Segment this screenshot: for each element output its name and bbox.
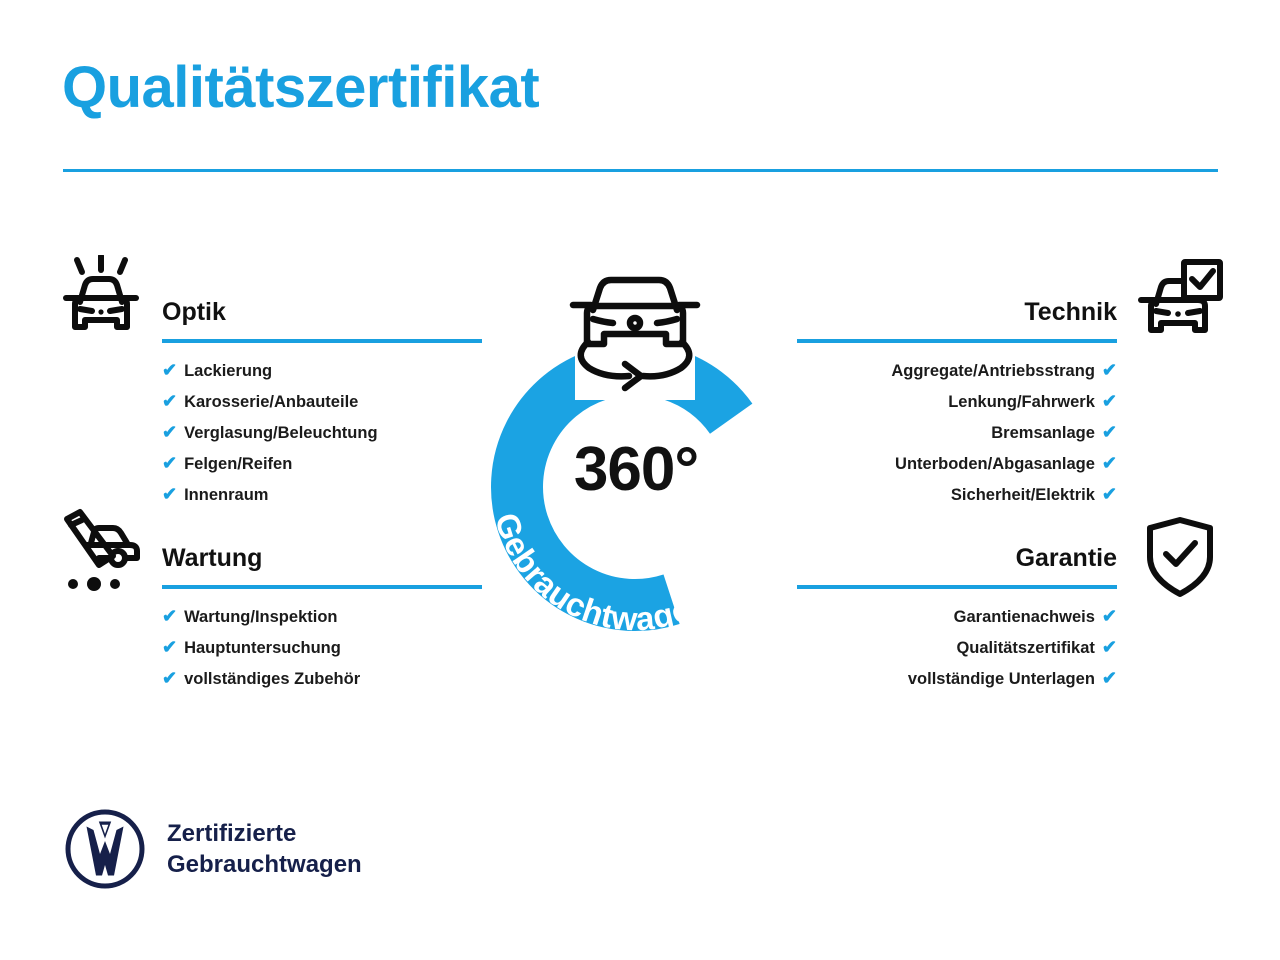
list-item-label: Hauptuntersuchung bbox=[184, 639, 341, 657]
footer-brand-text: Zertifizierte Gebrauchtwagen bbox=[167, 818, 362, 880]
check-icon: ✔ bbox=[162, 606, 177, 626]
footer-brand-line1: Zertifizierte bbox=[167, 818, 362, 849]
check-icon: ✔ bbox=[162, 360, 177, 380]
vw-roundel-icon bbox=[64, 808, 146, 890]
section-garantie-underline bbox=[797, 585, 1117, 589]
list-item: Unterboden/Abgasanlage✔ bbox=[797, 448, 1117, 479]
section-optik-underline bbox=[162, 339, 482, 343]
section-optik: Optik ✔Lackierung ✔Karosserie/Anbauteile… bbox=[162, 295, 482, 510]
shield-check-icon bbox=[1143, 515, 1217, 604]
list-item-label: vollständige Unterlagen bbox=[908, 670, 1095, 688]
check-icon: ✔ bbox=[1102, 668, 1117, 688]
check-icon: ✔ bbox=[162, 391, 177, 411]
section-technik-title: Technik bbox=[797, 295, 1117, 329]
list-item-label: Unterboden/Abgasanlage bbox=[895, 455, 1095, 473]
section-technik-underline bbox=[797, 339, 1117, 343]
list-item: Sicherheit/Elektrik✔ bbox=[797, 479, 1117, 510]
car-shine-icon bbox=[58, 255, 144, 352]
check-icon: ✔ bbox=[162, 453, 177, 473]
list-item: Garantienachweis✔ bbox=[797, 601, 1117, 632]
list-item: Qualitätszertifikat✔ bbox=[797, 632, 1117, 663]
page-title: Qualitätszertifikat bbox=[62, 58, 539, 119]
pencil-car-service-icon bbox=[58, 508, 144, 599]
section-garantie-header: Garantie bbox=[797, 541, 1117, 589]
section-optik-list: ✔Lackierung ✔Karosserie/Anbauteile ✔Verg… bbox=[162, 355, 482, 510]
check-icon: ✔ bbox=[1102, 453, 1117, 473]
check-icon: ✔ bbox=[1102, 360, 1117, 380]
list-item: ✔Felgen/Reifen bbox=[162, 448, 482, 479]
list-item-label: Lackierung bbox=[184, 362, 272, 380]
list-item-label: Karosserie/Anbauteile bbox=[184, 393, 358, 411]
list-item-label: Aggregate/Antriebsstrang bbox=[891, 362, 1095, 380]
check-icon: ✔ bbox=[162, 484, 177, 504]
list-item: ✔Lackierung bbox=[162, 355, 482, 386]
list-item: ✔Verglasung/Beleuchtung bbox=[162, 417, 482, 448]
list-item-label: Garantienachweis bbox=[954, 608, 1095, 626]
section-technik: Technik Aggregate/Antriebsstrang✔ Lenkun… bbox=[797, 295, 1117, 510]
list-item: ✔Innenraum bbox=[162, 479, 482, 510]
section-garantie-title: Garantie bbox=[797, 541, 1117, 575]
check-icon: ✔ bbox=[1102, 391, 1117, 411]
list-item: vollständige Unterlagen✔ bbox=[797, 663, 1117, 694]
car-checkbox-icon bbox=[1136, 258, 1224, 353]
section-wartung-header: Wartung bbox=[162, 541, 482, 589]
section-wartung-underline bbox=[162, 585, 482, 589]
section-wartung-title: Wartung bbox=[162, 541, 482, 575]
section-wartung: Wartung ✔Wartung/Inspektion ✔Hauptunters… bbox=[162, 541, 482, 694]
check-icon: ✔ bbox=[162, 637, 177, 657]
check-icon: ✔ bbox=[162, 422, 177, 442]
list-item-label: Qualitätszertifikat bbox=[956, 639, 1094, 657]
section-technik-header: Technik bbox=[797, 295, 1117, 343]
list-item-label: Verglasung/Beleuchtung bbox=[184, 424, 377, 442]
check-icon: ✔ bbox=[162, 668, 177, 688]
section-optik-header: Optik bbox=[162, 295, 482, 343]
footer-brand-logo: Zertifizierte Gebrauchtwagen bbox=[64, 808, 362, 890]
badge-360-gebrauchtwagen-check: Gebrauchtwagen-Check 360° bbox=[455, 250, 815, 640]
section-garantie-list: Garantienachweis✔ Qualitätszertifikat✔ v… bbox=[797, 601, 1117, 694]
section-technik-list: Aggregate/Antriebsstrang✔ Lenkung/Fahrwe… bbox=[797, 355, 1117, 510]
list-item-label: Lenkung/Fahrwerk bbox=[948, 393, 1095, 411]
list-item: ✔Karosserie/Anbauteile bbox=[162, 386, 482, 417]
check-icon: ✔ bbox=[1102, 637, 1117, 657]
section-optik-title: Optik bbox=[162, 295, 482, 329]
section-garantie: Garantie Garantienachweis✔ Qualitätszert… bbox=[797, 541, 1117, 694]
list-item: Lenkung/Fahrwerk✔ bbox=[797, 386, 1117, 417]
list-item-label: Wartung/Inspektion bbox=[184, 608, 337, 626]
list-item-label: vollständiges Zubehör bbox=[184, 670, 360, 688]
list-item-label: Innenraum bbox=[184, 486, 268, 504]
list-item-label: Sicherheit/Elektrik bbox=[951, 486, 1095, 504]
list-item: Aggregate/Antriebsstrang✔ bbox=[797, 355, 1117, 386]
header-divider bbox=[63, 169, 1218, 172]
list-item-label: Felgen/Reifen bbox=[184, 455, 292, 473]
list-item: ✔Hauptuntersuchung bbox=[162, 632, 482, 663]
list-item: ✔Wartung/Inspektion bbox=[162, 601, 482, 632]
section-wartung-list: ✔Wartung/Inspektion ✔Hauptuntersuchung ✔… bbox=[162, 601, 482, 694]
check-icon: ✔ bbox=[1102, 422, 1117, 442]
check-icon: ✔ bbox=[1102, 484, 1117, 504]
list-item-label: Bremsanlage bbox=[991, 424, 1095, 442]
check-icon: ✔ bbox=[1102, 606, 1117, 626]
list-item: Bremsanlage✔ bbox=[797, 417, 1117, 448]
footer-brand-line2: Gebrauchtwagen bbox=[167, 849, 362, 880]
list-item: ✔vollständiges Zubehör bbox=[162, 663, 482, 694]
